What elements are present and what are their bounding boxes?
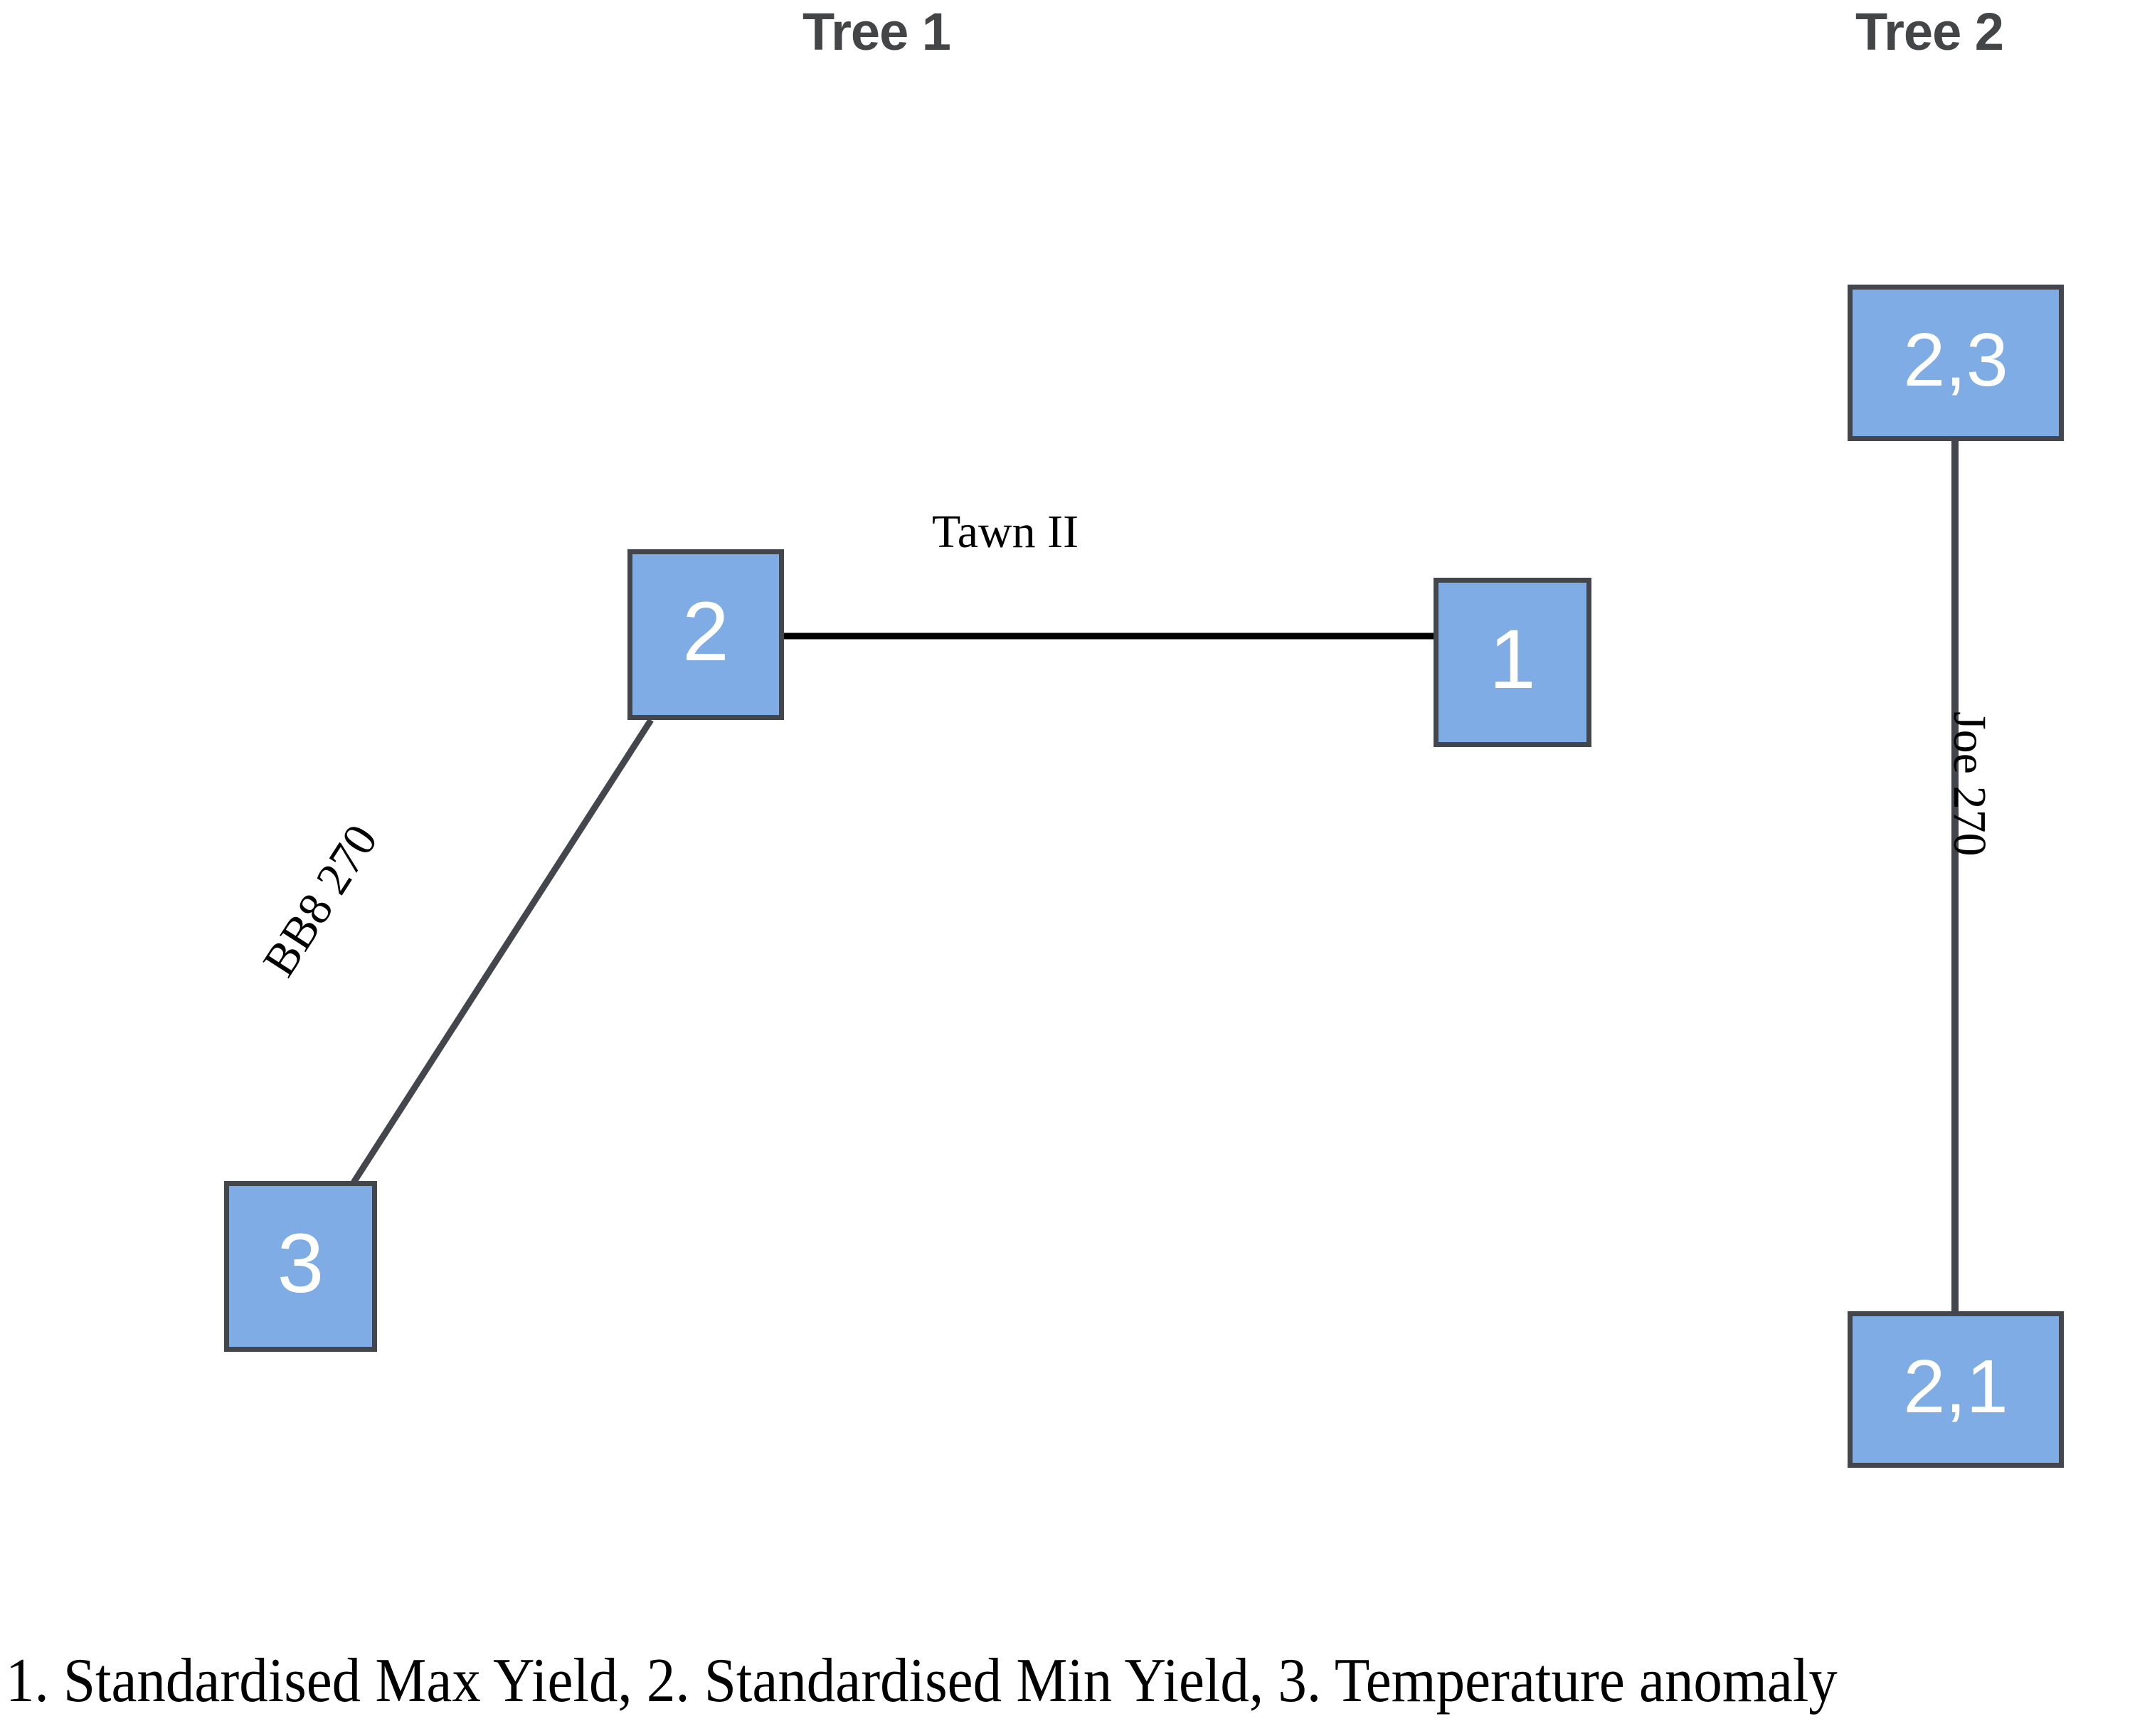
edge-label-joe-270: Joe 270 [1942, 711, 1996, 856]
node-tree1-1-label: 1 [1489, 618, 1536, 702]
node-tree2-2-1[interactable]: 2,1 [1848, 1311, 2064, 1468]
edge-tree1-2-to-3 [354, 720, 651, 1182]
node-tree2-2-1-label: 2,1 [1903, 1349, 2008, 1424]
node-tree1-2-label: 2 [682, 590, 729, 674]
node-tree1-3[interactable]: 3 [224, 1181, 377, 1352]
node-tree2-2-3-label: 2,3 [1903, 322, 2008, 398]
node-tree1-2[interactable]: 2 [627, 549, 784, 720]
node-tree1-1[interactable]: 1 [1434, 578, 1591, 747]
diagram-canvas: Tree 1 Tree 2 2 1 3 2,3 2,1 Tawn II BB8 … [0, 0, 2130, 1736]
edge-label-tawn-ii: Tawn II [932, 505, 1079, 559]
node-tree1-3-label: 3 [277, 1222, 324, 1306]
figure-caption: 1. Standardised Max Yield, 2. Standardis… [6, 1645, 1960, 1717]
node-tree2-2-3[interactable]: 2,3 [1848, 285, 2064, 441]
